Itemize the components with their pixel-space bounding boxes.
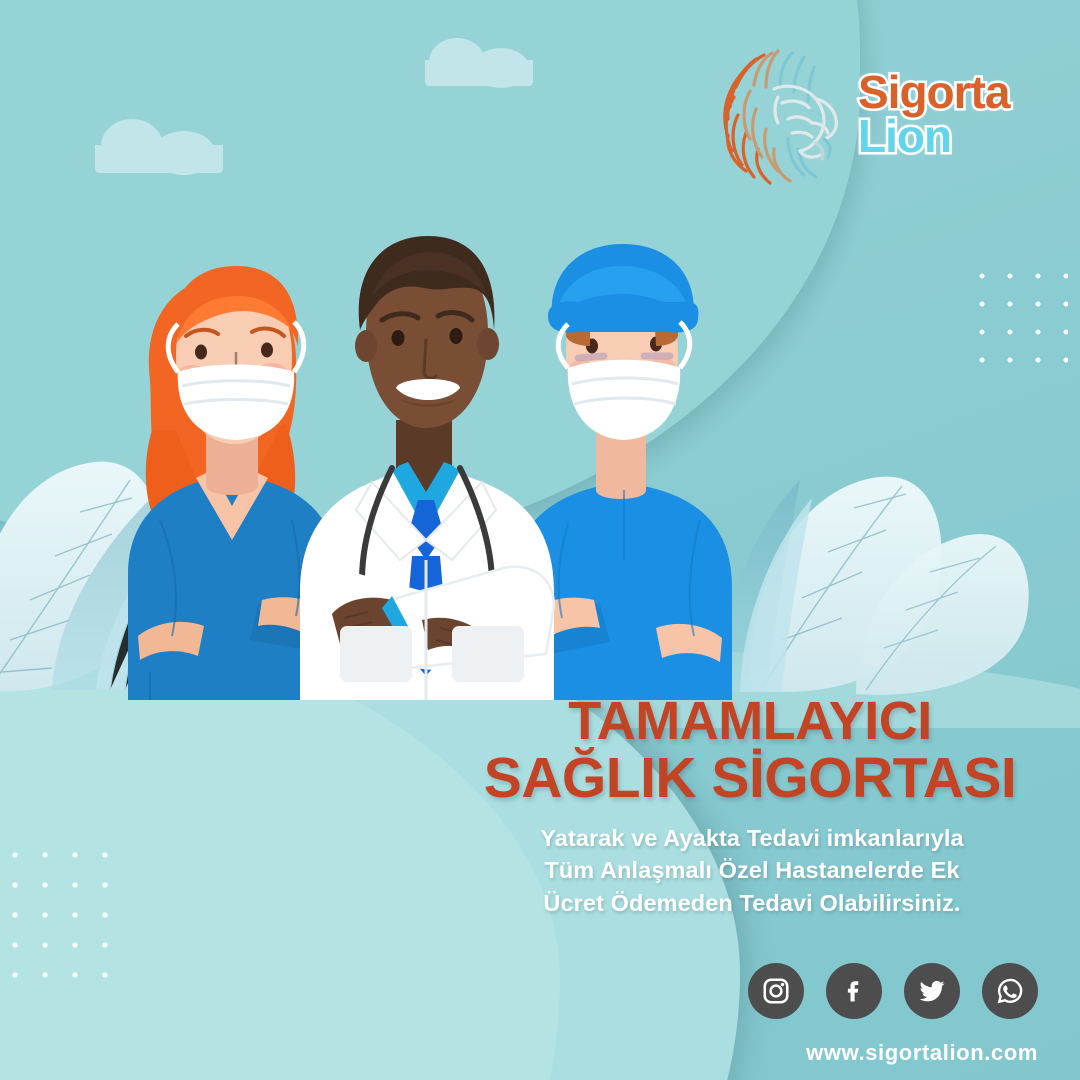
instagram-button[interactable] xyxy=(748,963,804,1019)
brand-name-line-1: Sigorta xyxy=(858,71,1009,113)
facebook-icon xyxy=(839,976,869,1006)
whatsapp-button[interactable] xyxy=(982,963,1038,1019)
headline-line-1: TAMAMLAYICI xyxy=(440,694,1060,749)
twitter-button[interactable] xyxy=(904,963,960,1019)
whatsapp-icon xyxy=(995,976,1025,1006)
subheadline: Yatarak ve Ayakta Tedavi imkanlarıyla Tü… xyxy=(452,822,1052,919)
lion-head-icon xyxy=(712,39,852,189)
doctor-center xyxy=(300,236,554,700)
facebook-button[interactable] xyxy=(826,963,882,1019)
subheadline-line-2: Tüm Anlaşmalı Özel Hastanelerde Ek xyxy=(452,854,1052,886)
page-title: TAMAMLAYICI SAĞLIK SİGORTASI xyxy=(440,694,1060,807)
brand-logo[interactable]: Sigorta Lion xyxy=(712,34,1012,194)
twitter-icon xyxy=(917,976,947,1006)
subheadline-line-1: Yatarak ve Ayakta Tedavi imkanlarıyla xyxy=(452,822,1052,854)
website-url[interactable]: www.sigortalion.com xyxy=(806,1040,1038,1066)
subheadline-line-3: Ücret Ödemeden Tedavi Olabilirsiniz. xyxy=(452,887,1052,919)
instagram-icon xyxy=(761,976,791,1006)
brand-name-line-2: Lion xyxy=(858,115,1009,157)
headline-line-2: SAĞLIK SİGORTASI xyxy=(440,749,1060,807)
poster-canvas: Sigorta Lion TAMAMLAYICI SAĞLIK SİGORTAS… xyxy=(0,0,1080,1080)
social-links xyxy=(748,963,1038,1019)
